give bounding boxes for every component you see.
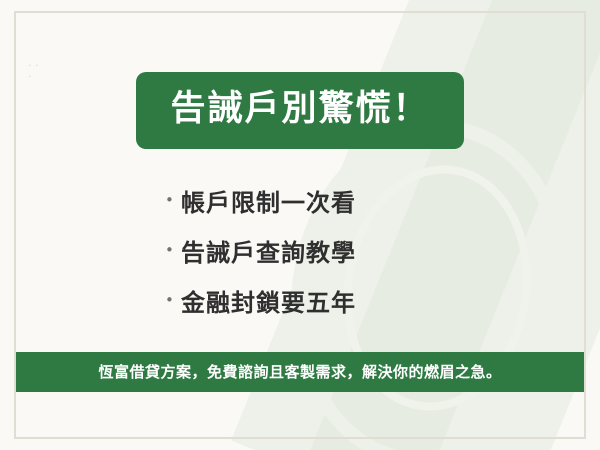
title-banner: 告誡戶別驚慌！ (136, 72, 463, 149)
bullet-text: 帳戶限制一次看 (181, 183, 356, 218)
footer-text: 恆富借貸方案，免費諮詢且客製需求，解決你的燃眉之急。 (16, 361, 584, 382)
bullet-dot-icon: • (165, 193, 181, 208)
bullet-dot-icon: • (165, 243, 181, 258)
list-item: • 帳戶限制一次看 (165, 183, 435, 218)
footer-banner: 恆富借貸方案，免費諮詢且客製需求，解決你的燃眉之急。 (16, 352, 584, 392)
poster-title: 告誡戶別驚慌！ (170, 90, 429, 129)
list-item: • 金融封鎖要五年 (165, 283, 435, 318)
bullet-text: 金融封鎖要五年 (181, 283, 356, 318)
list-item: • 告誡戶查詢教學 (165, 233, 435, 268)
bullet-text: 告誡戶查詢教學 (181, 233, 356, 268)
poster-canvas: · ·· 告誡戶別驚慌！ • 帳戶限制一次看 • 告誡戶查詢教學 • 金融封鎖要… (0, 0, 600, 450)
bullet-list: • 帳戶限制一次看 • 告誡戶查詢教學 • 金融封鎖要五年 (0, 183, 600, 318)
bullet-dot-icon: • (165, 293, 181, 308)
